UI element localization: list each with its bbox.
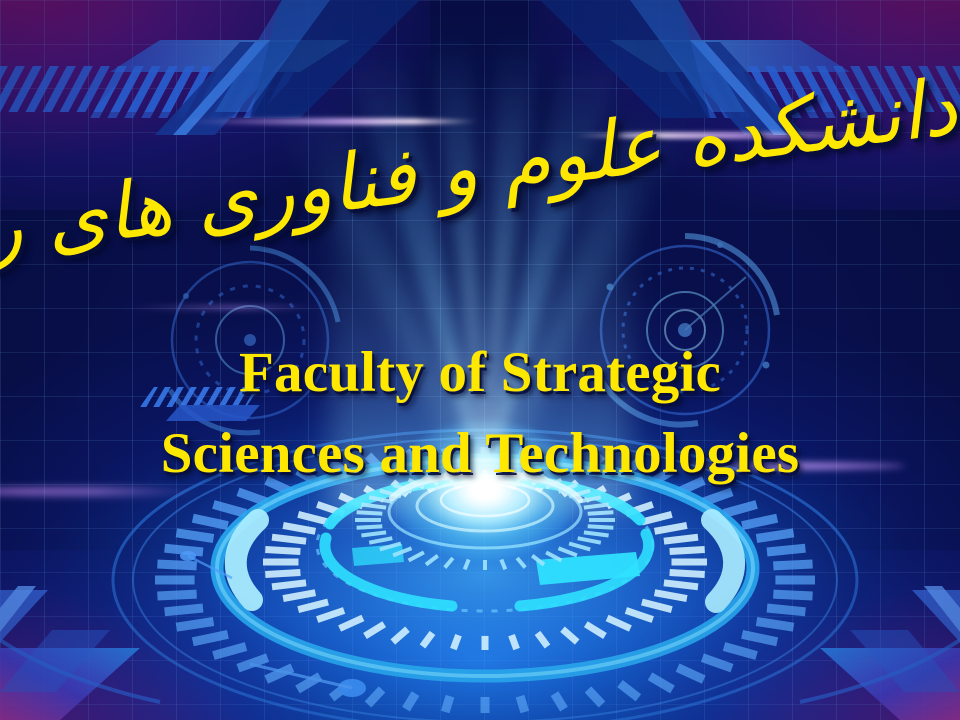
english-title-line-1: Faculty of Strategic: [0, 333, 960, 414]
english-title-line-2: Sciences and Technologies: [0, 414, 960, 495]
english-title: Faculty of Strategic Sciences and Techno…: [0, 333, 960, 495]
title-slide: دانشکده علوم و فناوری های راهبردی Facult…: [0, 0, 960, 720]
